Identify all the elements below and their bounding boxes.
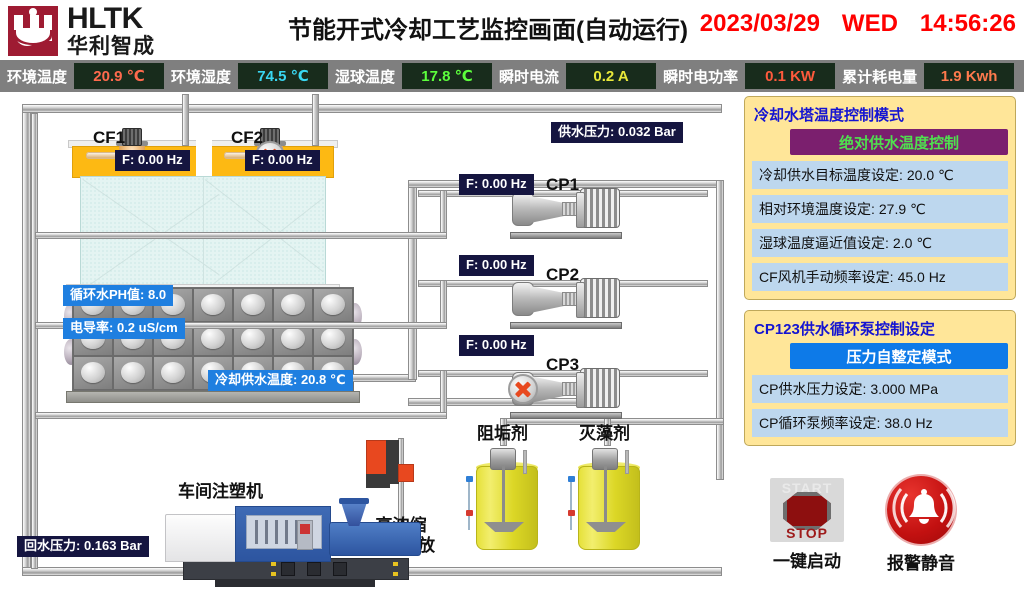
pump-cone [530, 286, 564, 313]
pipe-cp3-drop [440, 370, 447, 414]
tank-mixer-shaft [604, 466, 607, 528]
setpoint-row[interactable]: 相对环境温度设定: 27.9 ℃ [752, 195, 1008, 223]
clock: 2023/03/29 WED 14:56:26 [700, 10, 1016, 38]
status-item-4: 瞬时电功率0.1 KW [656, 62, 835, 90]
status-item-1: 环境湿度74.5 ℃ [164, 62, 328, 90]
hmi-screen: HLTK 华利智成 节能开式冷却工艺监控画面(自动运行) 2023/03/29 … [0, 0, 1024, 600]
pump-motor-icon [580, 188, 620, 228]
alarm-bell-icon[interactable] [884, 476, 958, 544]
fan-cf1-label: CF1 [93, 128, 125, 148]
imm-clamp-cover [165, 514, 237, 562]
process-diagram: F: 0.00 Hz F: 0.00 Hz CF1 CF2 循环水PH值: 8.… [0, 92, 740, 600]
pipe-top-header [22, 104, 722, 113]
page-title: 节能开式冷却工艺监控画面(自动运行) [248, 10, 728, 45]
status-item-label: 环境温度 [0, 66, 74, 87]
pipe-cp2-drop [440, 280, 447, 324]
imm-feet [215, 580, 375, 587]
logo-text-en: HLTK [67, 4, 155, 34]
setpoint-value[interactable]: 2.0 ℃ [893, 235, 932, 252]
conductivity-readout: 电导率: 0.2 uS/cm [63, 318, 185, 339]
pump-cp3-label: CP3 [546, 355, 579, 375]
setpoint-label: CP循环泵频率设定: [759, 413, 880, 433]
panel-title: 冷却水塔温度控制模式 [754, 104, 1008, 125]
setpoint-value[interactable]: 27.9 ℃ [879, 201, 926, 218]
valve-actuator-base [366, 474, 390, 488]
tank-dosing-pipe [625, 450, 629, 474]
pump-base [510, 412, 622, 419]
pump-cp3-fault-icon [508, 374, 538, 404]
alarm-mute-wrap[interactable]: 报警静音 [884, 476, 958, 574]
control-panel-1: CP123供水循环泵控制设定压力自整定模式CP供水压力设定: 3.000 MPa… [744, 310, 1016, 446]
imm-marker [271, 572, 276, 576]
one-key-start-caption: 一键启动 [770, 547, 844, 572]
tank-level-gauge [468, 480, 480, 530]
status-item-value: 17.8 ℃ [402, 63, 492, 89]
setpoint-value[interactable]: 45.0 Hz [898, 269, 946, 285]
status-item-value: 0.1 KW [745, 63, 835, 89]
clock-weekday: WED [842, 10, 898, 38]
fan-cf2-label: CF2 [231, 128, 263, 148]
pump-cp1-label: CP1 [546, 175, 579, 195]
status-item-label: 瞬时电功率 [656, 66, 745, 87]
tank-body [476, 466, 538, 550]
status-item-value: 1.9 Kwh [924, 63, 1014, 89]
pump-cp1-frequency: F: 0.00 Hz [459, 174, 534, 195]
status-item-5: 累计耗电量1.9 Kwh [835, 62, 1014, 90]
clock-date: 2023/03/29 [700, 10, 820, 38]
pipe-left-inner [31, 113, 38, 569]
control-panels: 冷却水塔温度控制模式绝对供水温度控制冷却供水目标温度设定: 20.0 ℃相对环境… [744, 96, 1016, 446]
action-buttons: START STOP 一键启动 报警静音 [744, 478, 1016, 596]
imm-cabinet-door [281, 562, 295, 576]
pump-cp2-label: CP2 [546, 265, 579, 285]
pipe-cp1-drop [440, 190, 447, 234]
status-item-2: 湿球温度17.8 ℃ [328, 62, 492, 90]
tank-mixer-shaft [502, 466, 505, 528]
tank-body [578, 466, 640, 550]
status-item-3: 瞬时电流0.2 A [492, 62, 656, 90]
pipe-supply-riser [408, 180, 417, 380]
tower-stack-1 [182, 94, 189, 146]
mode-button[interactable]: 压力自整定模式 [790, 343, 1008, 369]
pump-cp2-frequency: F: 0.00 Hz [459, 255, 534, 276]
imm-marker [393, 562, 398, 566]
status-item-0: 环境温度20.9 ℃ [0, 62, 164, 90]
setpoint-label: 相对环境温度设定: [759, 199, 875, 219]
chem-tank-algaecide[interactable] [568, 446, 644, 554]
clock-time: 14:56:26 [920, 10, 1016, 38]
imm-cabinet-door [307, 562, 321, 576]
header: HLTK 华利智成 节能开式冷却工艺监控画面(自动运行) 2023/03/29 … [0, 0, 1024, 58]
status-item-label: 湿球温度 [328, 66, 402, 87]
status-item-value: 74.5 ℃ [238, 63, 328, 89]
status-item-value: 0.2 A [566, 63, 656, 89]
stop-text: STOP [770, 525, 844, 541]
pipe-cp1-suction [35, 232, 447, 239]
tank-dosing-pipe [523, 450, 527, 474]
imm-hopper-cap [339, 498, 369, 504]
setpoint-label: 冷却供水目标温度设定: [759, 165, 903, 185]
supply-pressure-readout: 供水压力: 0.032 Bar [551, 122, 683, 143]
hard-water-discharge-valve[interactable] [366, 440, 412, 504]
setpoint-row[interactable]: CP循环泵频率设定: 38.0 Hz [752, 409, 1008, 437]
setpoint-label: CP供水压力设定: [759, 379, 866, 399]
pipe-right-riser [716, 180, 724, 480]
supply-temp-readout: 冷却供水温度: 20.8 ℃ [208, 370, 353, 391]
one-key-start-wrap[interactable]: START STOP 一键启动 [770, 478, 844, 572]
tower-stack-2 [312, 94, 319, 146]
imm-control-panel [297, 520, 313, 550]
chem-tank-2-label: 灭藻剂 [579, 424, 630, 444]
pump-motor-icon [580, 368, 620, 408]
status-item-label: 累计耗电量 [835, 66, 924, 87]
status-item-label: 瞬时电流 [492, 66, 566, 87]
alarm-mute-caption: 报警静音 [884, 549, 958, 574]
setpoint-row[interactable]: 湿球温度逼近值设定: 2.0 ℃ [752, 229, 1008, 257]
return-pressure-readout: 回水压力: 0.163 Bar [17, 536, 149, 557]
injection-molding-machine [165, 500, 423, 590]
basin-base [66, 391, 360, 403]
status-bar: 环境温度20.9 ℃环境湿度74.5 ℃湿球温度17.8 ℃瞬时电流0.2 A瞬… [0, 60, 1024, 92]
pipe-cp3-suction [35, 412, 447, 419]
hltk-people-mark-icon [8, 6, 58, 56]
imm-cabinet-door [333, 562, 347, 576]
mode-button[interactable]: 绝对供水温度控制 [790, 129, 1008, 155]
setpoint-value[interactable]: 20.0 ℃ [907, 167, 954, 184]
pump-base [510, 322, 622, 329]
status-item-label: 环境湿度 [164, 66, 238, 87]
pump-base [510, 232, 622, 239]
fan-cf1-frequency: F: 0.00 Hz [115, 150, 190, 171]
pump-motor-icon [580, 278, 620, 318]
setpoint-label: 湿球温度逼近值设定: [759, 233, 889, 253]
setpoint-label: CF风机手动频率设定: [759, 267, 894, 287]
status-item-value: 20.9 ℃ [74, 63, 164, 89]
imm-marker [393, 572, 398, 576]
start-stop-octagon-icon[interactable]: START STOP [770, 478, 844, 542]
injection-machine-label: 车间注塑机 [178, 482, 263, 502]
pump-cp3-frequency: F: 0.00 Hz [459, 335, 534, 356]
imm-injection-unit [329, 522, 421, 556]
panel-title: CP123供水循环泵控制设定 [754, 318, 1008, 339]
brand-logo: HLTK 华利智成 [8, 4, 155, 57]
valve-seat [398, 464, 414, 482]
tank-level-gauge [570, 480, 582, 530]
setpoint-value[interactable]: 3.000 MPa [870, 381, 938, 397]
imm-marker [271, 562, 276, 566]
imm-clamp-unit [235, 506, 331, 562]
chem-tank-scale-inhibitor[interactable] [466, 446, 542, 554]
fan-cf2-frequency: F: 0.00 Hz [245, 150, 320, 171]
setpoint-value[interactable]: 38.0 Hz [884, 415, 932, 431]
pipe-tower-outlet [352, 374, 416, 382]
logo-text: HLTK 华利智成 [67, 4, 155, 57]
setpoint-row[interactable]: 冷却供水目标温度设定: 20.0 ℃ [752, 161, 1008, 189]
setpoint-row[interactable]: CP供水压力设定: 3.000 MPa [752, 375, 1008, 403]
ph-readout: 循环水PH值: 8.0 [63, 285, 173, 306]
pipe-left-riser [22, 104, 31, 576]
pump-cone [530, 196, 564, 223]
control-panel-0: 冷却水塔温度控制模式绝对供水温度控制冷却供水目标温度设定: 20.0 ℃相对环境… [744, 96, 1016, 300]
logo-text-cn: 华利智成 [67, 36, 155, 57]
chem-tank-1-label: 阻垢剂 [477, 424, 528, 444]
setpoint-row[interactable]: CF风机手动频率设定: 45.0 Hz [752, 263, 1008, 291]
